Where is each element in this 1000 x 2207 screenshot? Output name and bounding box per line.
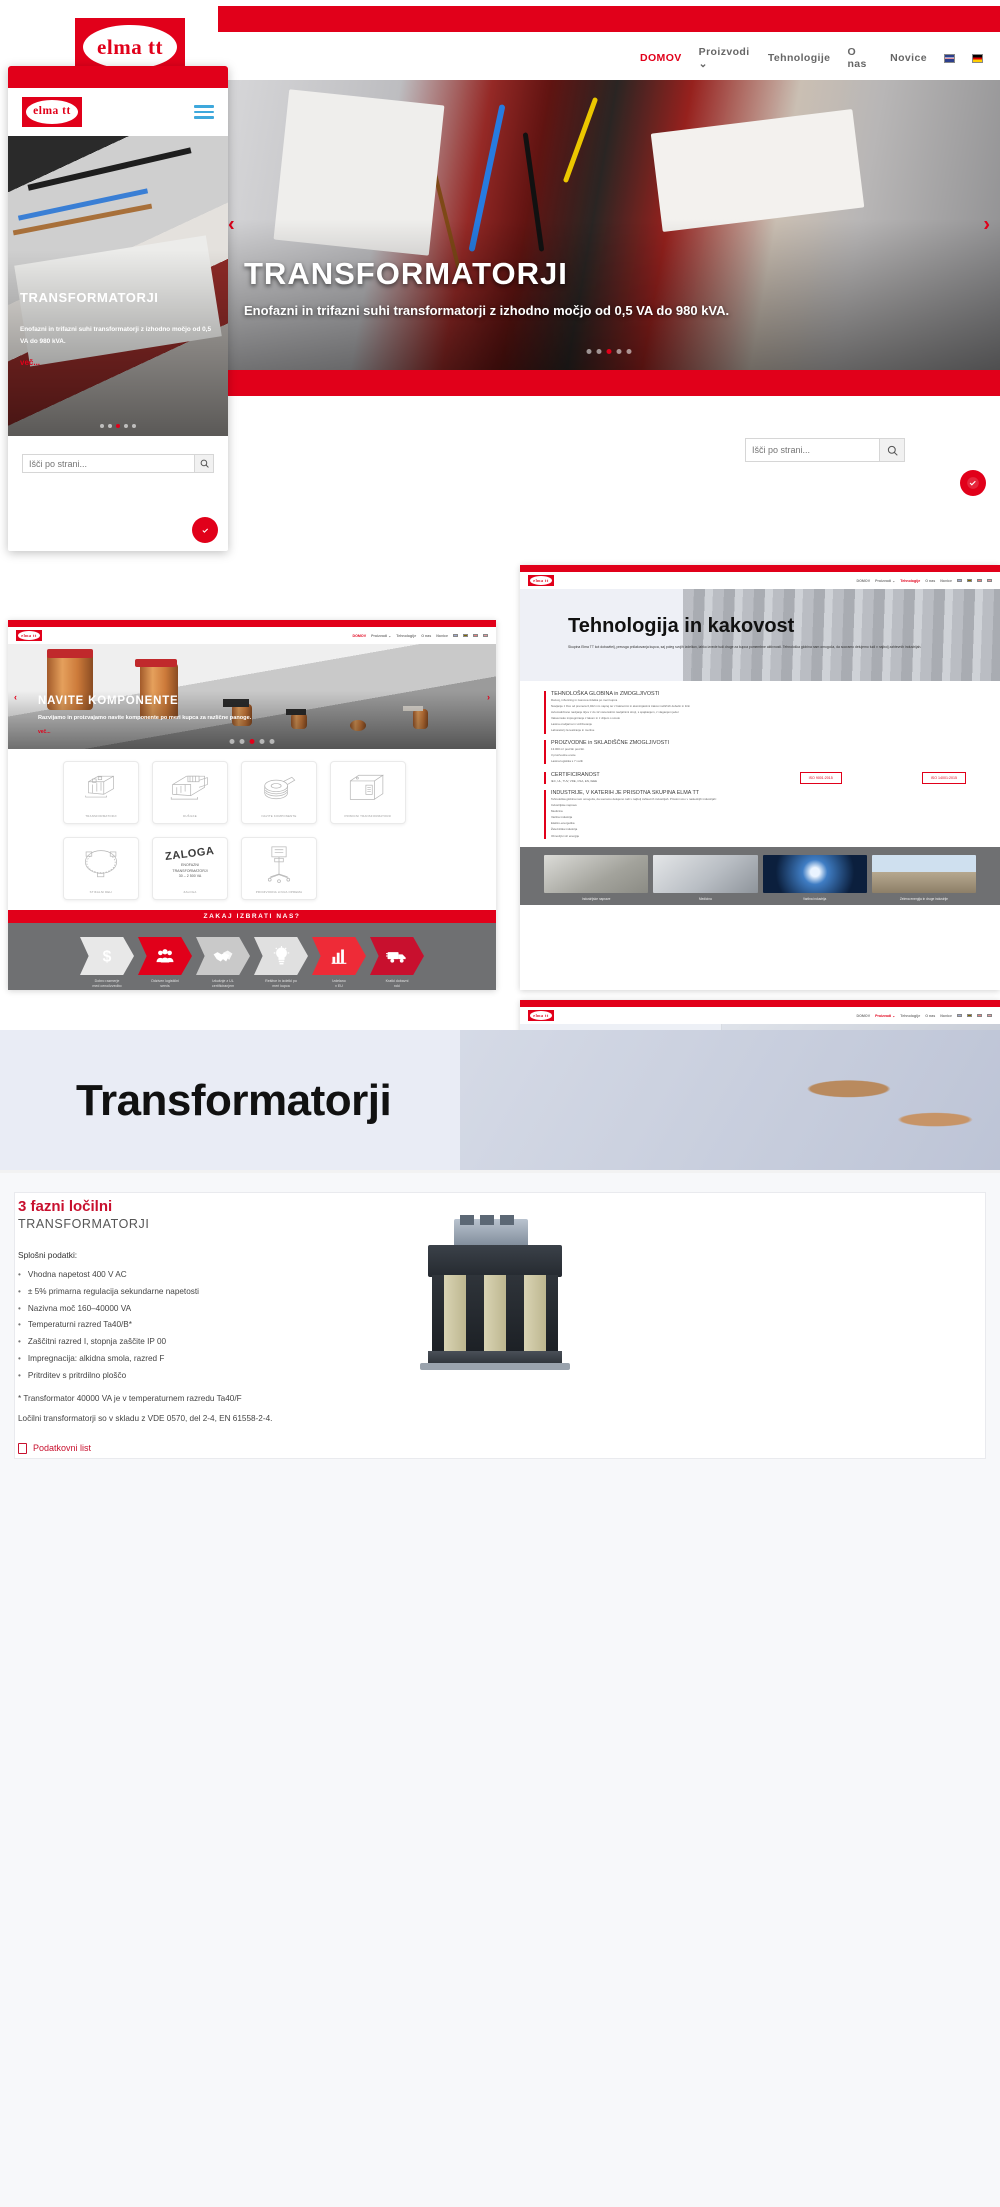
mobile-dot[interactable] <box>124 424 128 428</box>
industry-image <box>872 855 976 893</box>
stand-icon <box>242 838 316 890</box>
nk-flag-si-icon[interactable] <box>977 1014 982 1017</box>
why-item-price[interactable]: $ Dobro razmerje med ceno/izvedbo <box>80 937 134 990</box>
truck-icon <box>370 937 424 975</box>
panel-home-prev-arrow[interactable]: ‹ <box>14 692 17 702</box>
product-card-zaloga[interactable]: ZALOGA ENOFAZNI TRANSFORMATORJI 30 – 2 5… <box>152 837 228 900</box>
hamburger-menu-icon[interactable] <box>194 105 214 119</box>
product-photo <box>410 1215 640 1405</box>
industry-caption: Varilna industrija <box>763 897 867 901</box>
nk-nav-novice[interactable]: Novice <box>940 1014 952 1018</box>
product-card-caption: PRIMICNI TRANSFORMATORJI <box>345 814 392 818</box>
mobile-hero-overlay <box>8 136 228 436</box>
product-datasheet-link[interactable]: Podatkovni list <box>18 1443 558 1454</box>
industry-image <box>653 855 757 893</box>
nav-item-o-nas[interactable]: O nas <box>847 46 873 70</box>
product-standard-note: Ločilni transformatorji so v skladu z VD… <box>18 1414 558 1423</box>
hero-dot[interactable] <box>597 349 602 354</box>
top-red-strip <box>218 6 1000 32</box>
why-item-delivery[interactable]: Kratki dobavni roki <box>370 937 424 990</box>
handshake-icon <box>196 937 250 975</box>
transformer-icon <box>64 762 138 814</box>
panel-home-hero: NAVITE KOMPONENTE Razvijamo in proizvaja… <box>8 644 496 749</box>
svg-text:$: $ <box>103 949 112 966</box>
industry-card-zelena-energija[interactable]: Zelena energija in druge industrije <box>872 855 976 901</box>
hero-subtitle: Enofazni in trifazni suhi transformatorj… <box>244 303 729 318</box>
mobile-search-icon[interactable] <box>194 454 214 473</box>
product-title: 3 fazni ločilni <box>18 1198 558 1215</box>
teh-nav-novice[interactable]: Novice <box>940 579 952 583</box>
mobile-dot[interactable] <box>108 424 112 428</box>
teh-logo-text: elma tt <box>530 576 552 585</box>
lightbulb-icon <box>254 937 308 975</box>
hero-dot-active[interactable] <box>607 349 612 354</box>
hero-title: TRANSFORMATORJI <box>244 256 568 292</box>
panel-home-header: elma tt DOMOV Proizvodi ⌄ Tehnologije O … <box>8 627 496 644</box>
why-chevron-row: $ Dobro razmerje med ceno/izvedbo Odzive… <box>28 937 476 990</box>
teh-flag-de-icon[interactable] <box>967 579 972 582</box>
teh-section-item: Lastna logistika s 7 vozili <box>544 758 976 764</box>
teh-section-item: Laboratorij za testiranje in meritve <box>544 727 976 733</box>
panel-home-dots[interactable] <box>230 739 275 744</box>
homepage-thumbnail-panel: elma tt DOMOV Proizvodi ⌄ Tehnologije O … <box>8 620 496 990</box>
panel-nav-domov[interactable]: DOMOV <box>353 634 367 638</box>
hero-dot[interactable] <box>617 349 622 354</box>
mobile-hero-slider: TRANSFORMATORJI Enofazni in trifazni suh… <box>8 136 228 436</box>
industry-caption: Medicina <box>653 897 757 901</box>
product-card-caption: NAVITE KOMPONENTE <box>262 814 297 818</box>
mobile-view-overlay: elma tt TRANSFORMATORJI Enofazni in trif… <box>8 66 228 551</box>
why-choose-us-body: $ Dobro razmerje med ceno/izvedbo Odzive… <box>8 923 496 990</box>
teh-nav: DOMOV Proizvodi ⌄ Tehnologije O nas Novi… <box>857 579 992 583</box>
industry-caption: Zelena energija in druge industrije <box>872 897 976 901</box>
teh-flag-en-icon[interactable] <box>957 579 962 582</box>
teh-sections: TEHNOLOŠKA GLOBINA in ZMOGLJIVOSTI Razvo… <box>520 681 1000 839</box>
why-item-logistics[interactable]: Odziven logistični servis <box>138 937 192 990</box>
teh-hero: Tehnologija in kakovost Skupina Elma TT … <box>520 589 1000 681</box>
mobile-logo-text: elma tt <box>26 100 78 124</box>
teh-header: elma tt DOMOV Proizvodi ⌄ Tehnologije O … <box>520 572 1000 589</box>
panel-nav-tehnologije[interactable]: Tehnologije <box>396 634 416 638</box>
why-item-label: Izdelano v EU <box>312 979 366 990</box>
teh-hero-title: Tehnologija in kakovost <box>568 615 794 638</box>
industry-card-medicina[interactable]: Medicina <box>653 855 757 901</box>
nk-logo[interactable]: elma tt <box>528 1010 554 1021</box>
panel-home-logo-text: elma tt <box>18 631 40 640</box>
why-item-ul-cert[interactable]: Izkušnje z UL certificiranjem <box>196 937 250 990</box>
hero-bottom-red-band <box>218 370 1000 396</box>
cookie-consent-icon[interactable] <box>960 470 986 496</box>
nav-item-novice[interactable]: Novice <box>890 52 927 64</box>
teh-section-item: Obnovljivi viri energije <box>544 833 976 839</box>
nk-flag-rs-icon[interactable] <box>987 1014 992 1017</box>
teh-nav-domov[interactable]: DOMOV <box>857 579 871 583</box>
logo-text: elma tt <box>83 25 177 69</box>
product-card-caption: PROIZVODNA LINIJA OPREMA <box>256 890 302 894</box>
nk-nav-tehnologije[interactable]: Tehnologije <box>900 1014 920 1018</box>
hero-slider: TRANSFORMATORJI Enofazni in trifazni suh… <box>218 80 1000 370</box>
panel-home-nav: DOMOV Proizvodi ⌄ Tehnologije O nas Novi… <box>353 634 488 638</box>
why-item-made-in-eu[interactable]: Izdelano v EU <box>312 937 366 990</box>
product-card-premicni-transformatorji[interactable]: PRIMICNI TRANSFORMATORJI <box>330 761 406 824</box>
industry-card-varilna-industrija[interactable]: Varilna industrija <box>763 855 867 901</box>
panel-home-logo[interactable]: elma tt <box>16 630 42 641</box>
mobile-hero-title: TRANSFORMATORJI <box>20 291 218 305</box>
panel-flag-rs-icon[interactable] <box>483 634 488 637</box>
nav-item-tehnologije[interactable]: Tehnologije <box>768 52 831 64</box>
nk-nav-proizvodi[interactable]: Proizvodi ⌄ <box>875 1014 895 1018</box>
panel-dot[interactable] <box>260 739 265 744</box>
panel-flag-si-icon[interactable] <box>473 634 478 637</box>
product-card-stikalni-deli[interactable]: STIKALNI DELI <box>63 837 139 900</box>
technology-page-panel: elma tt DOMOV Proizvodi ⌄ Tehnologije O … <box>520 565 1000 990</box>
industry-caption: Industrijske naprave <box>544 897 648 901</box>
pdf-document-icon <box>18 1443 27 1454</box>
mobile-slide-dots[interactable] <box>100 424 136 428</box>
panel-flag-de-icon[interactable] <box>463 634 468 637</box>
why-item-label: Dobro razmerje med ceno/izvedbo <box>80 979 134 990</box>
main-navigation: DOMOV Proizvodi ⌄ Tehnologije O nas Novi… <box>640 46 1000 70</box>
iso-14001-badge: ISO 14001:2015 <box>922 772 966 784</box>
mobile-header: elma tt <box>8 88 228 136</box>
why-item-label: Rešitve in izdelki po meri kupca <box>254 979 308 990</box>
mobile-site-logo[interactable]: elma tt <box>22 97 82 127</box>
hero-prev-arrow[interactable]: ‹ <box>228 214 235 237</box>
panel-dot[interactable] <box>230 739 235 744</box>
flag-de-icon[interactable] <box>972 54 983 63</box>
panel-flag-en-icon[interactable] <box>453 634 458 637</box>
nk-nav: DOMOV Proizvodi ⌄ Tehnologije O nas Novi… <box>857 1014 992 1018</box>
product-card-transformatorji[interactable]: TRANSFORMATORJI <box>63 761 139 824</box>
dollar-icon: $ <box>80 937 134 975</box>
mobile-search-input[interactable] <box>22 454 194 473</box>
mobile-hero-more-link[interactable]: več... <box>20 358 40 367</box>
panel-dot[interactable] <box>240 739 245 744</box>
mobile-dot[interactable] <box>132 424 136 428</box>
panel-dot[interactable] <box>270 739 275 744</box>
hero-slide-dots[interactable] <box>587 349 632 354</box>
panel-home-hero-subtitle: Razvijamo in proizvajamo navite komponen… <box>38 715 251 721</box>
search-input[interactable] <box>745 438 879 462</box>
chart-icon <box>312 937 366 975</box>
iso-9001-badge: ISO 9001:2015 <box>800 772 842 784</box>
panel-home-red-strip <box>8 620 496 627</box>
industry-gallery: Industrijske naprave Medicina Varilna in… <box>520 847 1000 905</box>
hero-dot[interactable] <box>587 349 592 354</box>
product-card-caption: ZALOGA <box>184 890 197 894</box>
product-card-caption: DUŠILKE <box>183 814 197 818</box>
why-item-label: Kratki dobavni roki <box>370 979 424 990</box>
product-hero-divider <box>0 1170 1000 1173</box>
mobile-dot[interactable] <box>100 424 104 428</box>
zaloga-tag-text: ZALOGA <box>165 845 216 863</box>
product-card-navite-komponente[interactable]: NAVITE KOMPONENTE <box>241 761 317 824</box>
panel-nav-o-nas[interactable]: O nas <box>421 634 431 638</box>
product-card-proizvodna-oprema[interactable]: PROIZVODNA LINIJA OPREMA <box>241 837 317 900</box>
nk-flag-en-icon[interactable] <box>957 1014 962 1017</box>
nk-logo-text: elma tt <box>530 1011 552 1020</box>
why-item-label: Izkušnje z UL certificiranjem <box>196 979 250 990</box>
ring-icon <box>64 838 138 890</box>
product-hero-title: Transformatorji <box>76 1076 391 1126</box>
teh-flag-rs-icon[interactable] <box>987 579 992 582</box>
teh-cert-item: IEC, UL, TUV, VDE, CSA, EN, IEEE <box>544 778 800 784</box>
mobile-cookie-consent-icon[interactable] <box>192 517 218 543</box>
industry-image <box>763 855 867 893</box>
hero-gradient-overlay <box>218 219 1000 370</box>
zaloga-subtext: ENOFAZNI TRANSFORMATORJI 30 – 2 500 VA <box>172 863 207 879</box>
mobile-dot-active[interactable] <box>116 424 120 428</box>
nk-nav-o-nas[interactable]: O nas <box>925 1014 935 1018</box>
product-card-dusilke[interactable]: DUŠILKE <box>152 761 228 824</box>
teh-nav-o-nas[interactable]: O nas <box>925 579 935 583</box>
product-datasheet-label: Podatkovni list <box>33 1443 91 1453</box>
teh-logo[interactable]: elma tt <box>528 575 554 586</box>
nk-flag-de-icon[interactable] <box>967 1014 972 1017</box>
panel-nav-proizvodi[interactable]: Proizvodi ⌄ <box>371 634 391 638</box>
product-card-caption: TRANSFORMATORJI <box>85 814 116 818</box>
why-item-custom[interactable]: Rešitve in izdelki po meri kupca <box>254 937 308 990</box>
nk-red-strip <box>520 1000 1000 1007</box>
panel-nav-novice[interactable]: Novice <box>436 634 448 638</box>
mobile-hero-subtitle: Enofazni in trifazni suhi transformatorj… <box>20 324 216 348</box>
why-item-label: Odziven logistični servis <box>138 979 192 990</box>
nk-header: elma tt DOMOV Proizvodi ⌄ Tehnologije O … <box>520 1007 1000 1024</box>
nav-item-proizvodi[interactable]: Proizvodi ⌄ <box>699 46 751 70</box>
teh-nav-tehnologije[interactable]: Tehnologije <box>900 579 920 583</box>
panel-home-next-arrow[interactable]: › <box>487 692 490 702</box>
product-card-grid: TRANSFORMATORJI DUŠILKE NAV <box>8 749 496 910</box>
panel-dot-active[interactable] <box>250 739 255 744</box>
industry-image <box>544 855 648 893</box>
teh-red-strip <box>520 565 1000 572</box>
product-page-hero: Transformatorji <box>0 1030 1000 1170</box>
hero-dot[interactable] <box>627 349 632 354</box>
nk-nav-domov[interactable]: DOMOV <box>857 1014 871 1018</box>
search-icon[interactable] <box>879 438 905 462</box>
teh-flag-si-icon[interactable] <box>977 579 982 582</box>
choke-icon <box>153 762 227 814</box>
mobile-search <box>22 454 214 473</box>
coil-icon <box>242 762 316 814</box>
teh-nav-proizvodi[interactable]: Proizvodi ⌄ <box>875 579 895 583</box>
cabinet-icon <box>331 762 405 814</box>
nav-item-domov[interactable]: DOMOV <box>640 52 682 64</box>
flag-en-icon[interactable] <box>944 54 955 63</box>
site-search <box>745 438 905 462</box>
zaloga-badge: ZALOGA ENOFAZNI TRANSFORMATORJI 30 – 2 5… <box>153 838 227 890</box>
panel-home-hero-title: NAVITE KOMPONENTE <box>38 695 179 707</box>
people-icon <box>138 937 192 975</box>
panel-home-hero-more[interactable]: več... <box>38 729 51 735</box>
product-hero-image <box>460 1030 1000 1170</box>
why-choose-us-title: ZAKAJ IZBRATI NAS? <box>8 910 496 923</box>
product-card-caption: STIKALNI DELI <box>90 890 113 894</box>
mobile-top-red-bar <box>8 66 228 88</box>
hero-next-arrow[interactable]: › <box>983 214 990 237</box>
industry-card-industrijske-naprave[interactable]: Industrijske naprave <box>544 855 648 901</box>
teh-hero-text: Skupina Elma TT kot dobavitelj, preusga … <box>568 644 976 650</box>
